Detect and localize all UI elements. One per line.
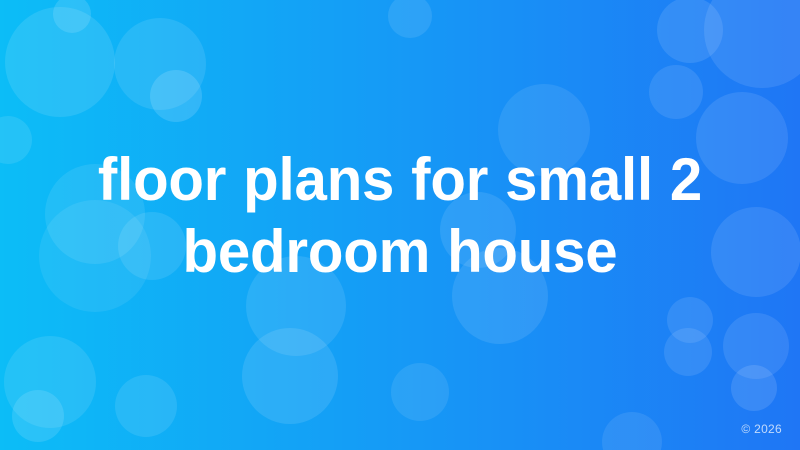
page-title: floor plans for small 2 bedroom house bbox=[70, 144, 730, 306]
copyright-notice: © 2026 bbox=[741, 422, 782, 436]
title-block: floor plans for small 2 bedroom house bbox=[0, 0, 800, 450]
promo-banner: floor plans for small 2 bedroom house © … bbox=[0, 0, 800, 450]
